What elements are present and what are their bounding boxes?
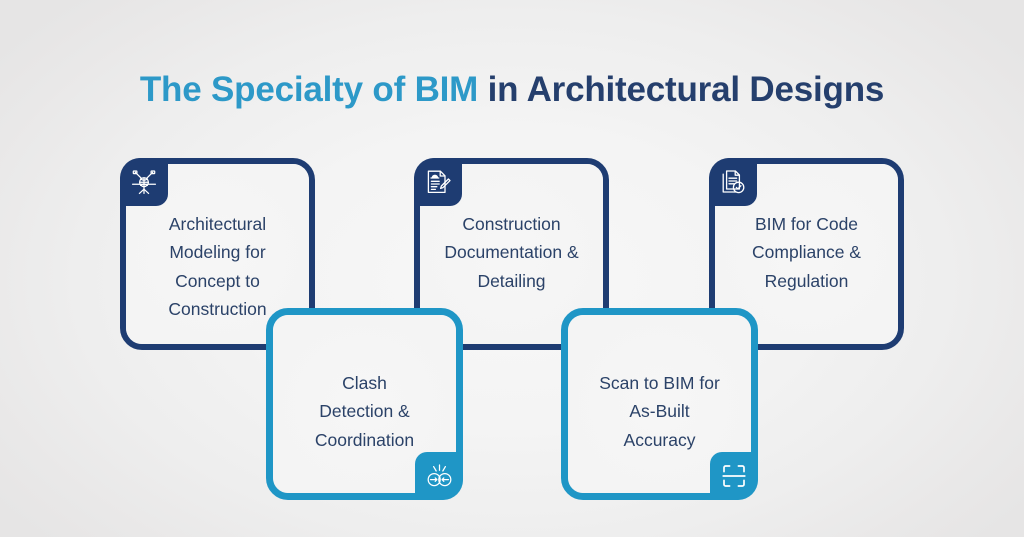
page-title: The Specialty of BIM in Architectural De… [0, 71, 1024, 110]
card-scan-to-bim[interactable]: Scan to BIM for As-Built Accuracy [561, 308, 758, 500]
surveying-instrument-icon [120, 158, 168, 206]
card-clash-detection[interactable]: Clash Detection & Coordination [266, 308, 463, 500]
card-label: Clash Detection & Coordination [283, 369, 446, 454]
card-label: Architectural Modeling for Concept to Co… [136, 210, 299, 323]
card-label: Construction Documentation & Detailing [430, 210, 593, 295]
card-label: BIM for Code Compliance & Regulation [725, 210, 888, 295]
document-verified-icon [709, 158, 757, 206]
document-pencil-icon [414, 158, 462, 206]
clash-collision-icon [415, 452, 463, 500]
scan-frame-icon [710, 452, 758, 500]
page-title-main: in Architectural Designs [478, 70, 884, 109]
card-label: Scan to BIM for As-Built Accuracy [578, 369, 741, 454]
page-title-accent: The Specialty of BIM [140, 70, 478, 109]
infographic-canvas: The Specialty of BIM in Architectural De… [0, 0, 1024, 537]
